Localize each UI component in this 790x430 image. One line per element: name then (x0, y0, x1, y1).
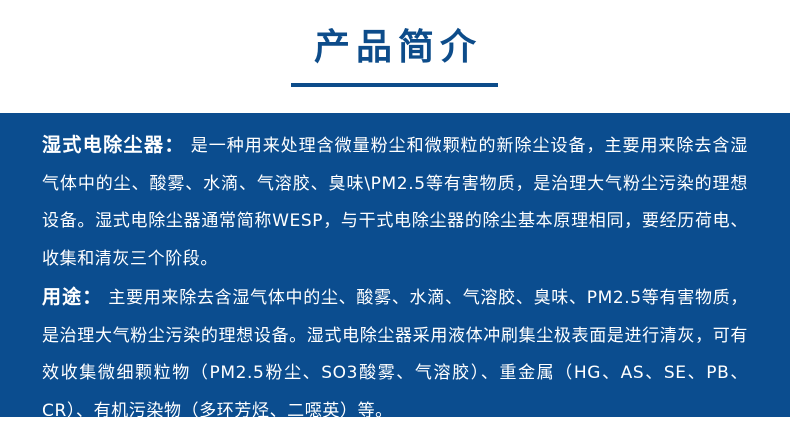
title-underline-rule (291, 83, 498, 87)
page-header: 产品简介 (0, 0, 790, 113)
paragraph-wet-esp-definition: 湿式电除尘器：是一种用来处理含微量粉尘和微颗粒的新除尘设备，主要用来除去含湿气体… (42, 127, 748, 278)
paragraph-usage: 用途：主要用来除去含湿气体中的尘、酸雾、水滴、气溶胶、臭味、PM2.5等有害物质… (42, 279, 748, 430)
paragraph-body-text: 主要用来除去含湿气体中的尘、酸雾、水滴、气溶胶、臭味、PM2.5等有害物质，是治… (42, 288, 748, 421)
intro-body-panel: 湿式电除尘器：是一种用来处理含微量粉尘和微颗粒的新除尘设备，主要用来除去含湿气体… (0, 113, 790, 417)
product-intro-page: 产品简介 湿式电除尘器：是一种用来处理含微量粉尘和微颗粒的新除尘设备，主要用来除… (0, 0, 790, 417)
paragraph-lead-label: 用途： (42, 286, 102, 308)
paragraph-lead-label: 湿式电除尘器： (42, 134, 185, 156)
page-title: 产品简介 (0, 26, 790, 70)
